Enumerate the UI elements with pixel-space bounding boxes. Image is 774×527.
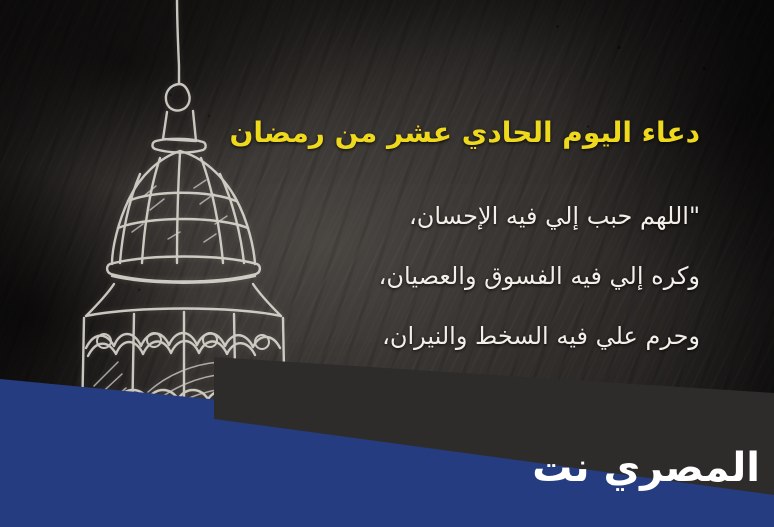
page-title: دعاء اليوم الحادي عشر من رمضان xyxy=(229,116,700,149)
ramadan-dua-card: دعاء اليوم الحادي عشر من رمضان "اللهم حب… xyxy=(0,0,774,527)
quote-line: وحرم علي فيه السخط والنيران، xyxy=(379,306,700,366)
quote-line: "اللهم حبب إلي فيه الإحسان، xyxy=(379,186,700,246)
brand-name: المصري نت xyxy=(532,445,760,491)
quote-line: وكره إلي فيه الفسوق والعصيان، xyxy=(379,246,700,306)
